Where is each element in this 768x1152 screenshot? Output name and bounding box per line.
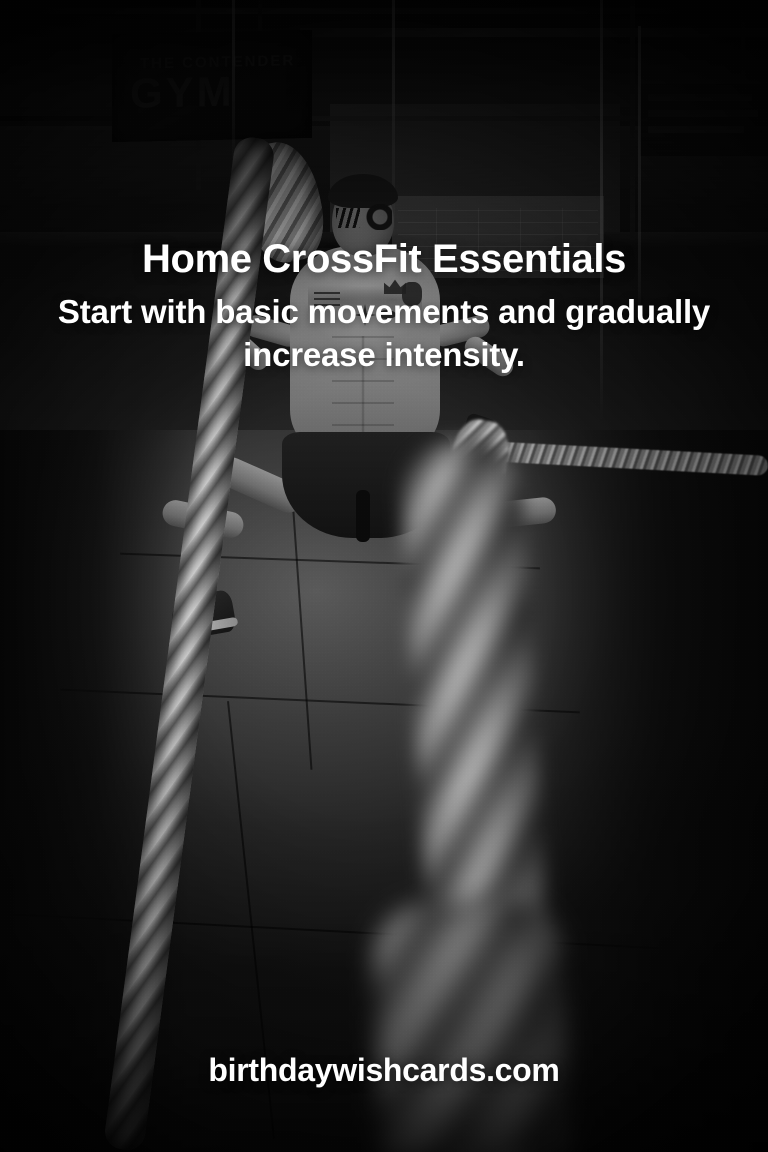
footer: birthdaywishcards.com [0,1052,768,1089]
pinterest-fitness-card: THE CONTENDER GYM [0,0,768,1152]
website-url[interactable]: birthdaywishcards.com [208,1052,559,1088]
background-photo: THE CONTENDER GYM [0,0,768,1152]
subheadline: Start with basic movements and gradually… [26,291,742,377]
text-overlay: Home CrossFit Essentials Start with basi… [0,238,768,377]
headline: Home CrossFit Essentials [26,238,742,281]
battle-rope-right-nearfield [372,897,571,1152]
